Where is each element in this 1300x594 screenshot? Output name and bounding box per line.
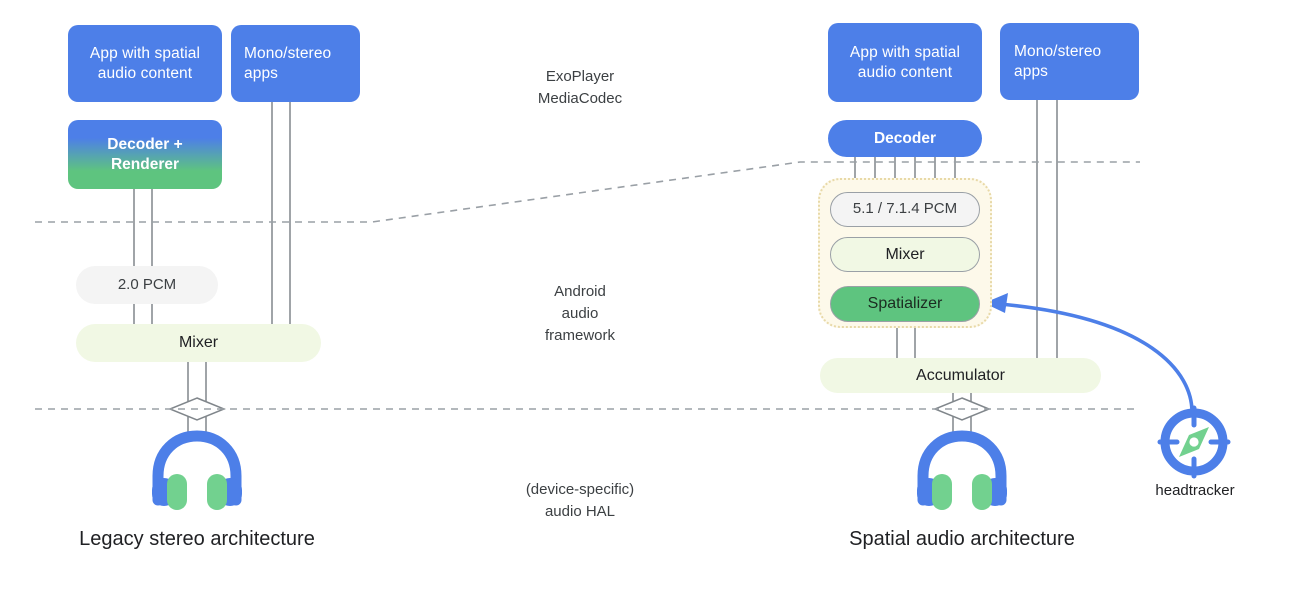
left-app-spatial-line1: App with spatial xyxy=(90,45,200,62)
right-headphones-icon xyxy=(913,428,1011,510)
right-spatializer-box[interactable]: Spatializer xyxy=(830,286,980,322)
headtracker-compass-icon[interactable] xyxy=(1157,405,1231,479)
right-mono-stereo-label: Mono/stereo apps xyxy=(1014,42,1101,81)
right-accumulator-label: Accumulator xyxy=(916,366,1005,386)
right-decoder-box[interactable]: Decoder xyxy=(828,120,982,157)
center-label-android-line3: framework xyxy=(545,327,615,344)
left-architecture-caption-text: Legacy stereo architecture xyxy=(79,528,315,550)
left-decoder-renderer-line2: Renderer xyxy=(111,156,179,173)
headtracker-arrow xyxy=(984,293,1192,412)
right-mono-stereo-line1: Mono/stereo xyxy=(1014,43,1101,60)
connector-diamond-right xyxy=(935,398,989,420)
left-decoder-renderer-line1: Decoder + xyxy=(107,136,182,153)
left-mixer-box[interactable]: Mixer xyxy=(76,324,321,362)
left-mixer-label: Mixer xyxy=(179,333,218,353)
center-label-android-line2: audio xyxy=(562,305,599,322)
diagram-canvas: App with spatial audio content Mono/ster… xyxy=(0,0,1300,594)
right-architecture-caption: Spatial audio architecture xyxy=(790,528,1134,551)
left-decoder-renderer-box[interactable]: Decoder + Renderer xyxy=(68,120,222,189)
left-app-spatial-label: App with spatial audio content xyxy=(90,44,200,83)
right-app-spatial-line2: audio content xyxy=(858,64,952,81)
right-app-spatial-label: App with spatial audio content xyxy=(850,43,960,82)
left-mono-stereo-line1: Mono/stereo xyxy=(244,45,331,62)
left-architecture-caption: Legacy stereo architecture xyxy=(0,528,394,551)
left-mono-stereo-box[interactable]: Mono/stereo apps xyxy=(231,25,360,102)
center-label-audio-hal: (device-specific) audio HAL xyxy=(470,479,690,523)
headtracker-caption-text: headtracker xyxy=(1155,482,1234,499)
left-mono-stereo-label: Mono/stereo apps xyxy=(244,44,331,83)
center-label-exoplayer-line2: MediaCodec xyxy=(538,90,622,107)
left-app-spatial-line2: audio content xyxy=(98,65,192,82)
center-label-exoplayer-line1: ExoPlayer xyxy=(546,68,614,85)
center-label-hal-line1: (device-specific) xyxy=(526,481,634,498)
center-label-hal-line2: audio HAL xyxy=(545,503,615,520)
right-mixer-box[interactable]: Mixer xyxy=(830,237,980,272)
right-decoder-label: Decoder xyxy=(874,129,936,148)
right-app-spatial-line1: App with spatial xyxy=(850,44,960,61)
center-label-android-framework: Android audio framework xyxy=(470,281,690,346)
center-label-android-line1: Android xyxy=(554,283,606,300)
right-mixer-label: Mixer xyxy=(885,245,924,265)
headtracker-caption: headtracker xyxy=(1120,482,1270,499)
right-pcm-box[interactable]: 5.1 / 7.1.4 PCM xyxy=(830,192,980,227)
right-mono-stereo-box[interactable]: Mono/stereo apps xyxy=(1000,23,1139,100)
right-spatializer-label: Spatializer xyxy=(868,294,943,314)
right-architecture-caption-text: Spatial audio architecture xyxy=(849,528,1075,550)
center-label-exoplayer: ExoPlayer MediaCodec xyxy=(470,66,690,110)
right-mono-stereo-line2: apps xyxy=(1014,63,1048,80)
right-pcm-label: 5.1 / 7.1.4 PCM xyxy=(853,200,957,219)
left-mono-stereo-line2: apps xyxy=(244,65,278,82)
left-app-spatial-box[interactable]: App with spatial audio content xyxy=(68,25,222,102)
left-headphones-icon xyxy=(148,428,246,510)
left-decoder-renderer-label: Decoder + Renderer xyxy=(107,135,182,174)
connector-diamond-left xyxy=(170,398,224,420)
right-accumulator-box[interactable]: Accumulator xyxy=(820,358,1101,393)
left-pcm-label: 2.0 PCM xyxy=(118,276,176,295)
left-pcm-box[interactable]: 2.0 PCM xyxy=(76,266,218,304)
right-app-spatial-box[interactable]: App with spatial audio content xyxy=(828,23,982,102)
